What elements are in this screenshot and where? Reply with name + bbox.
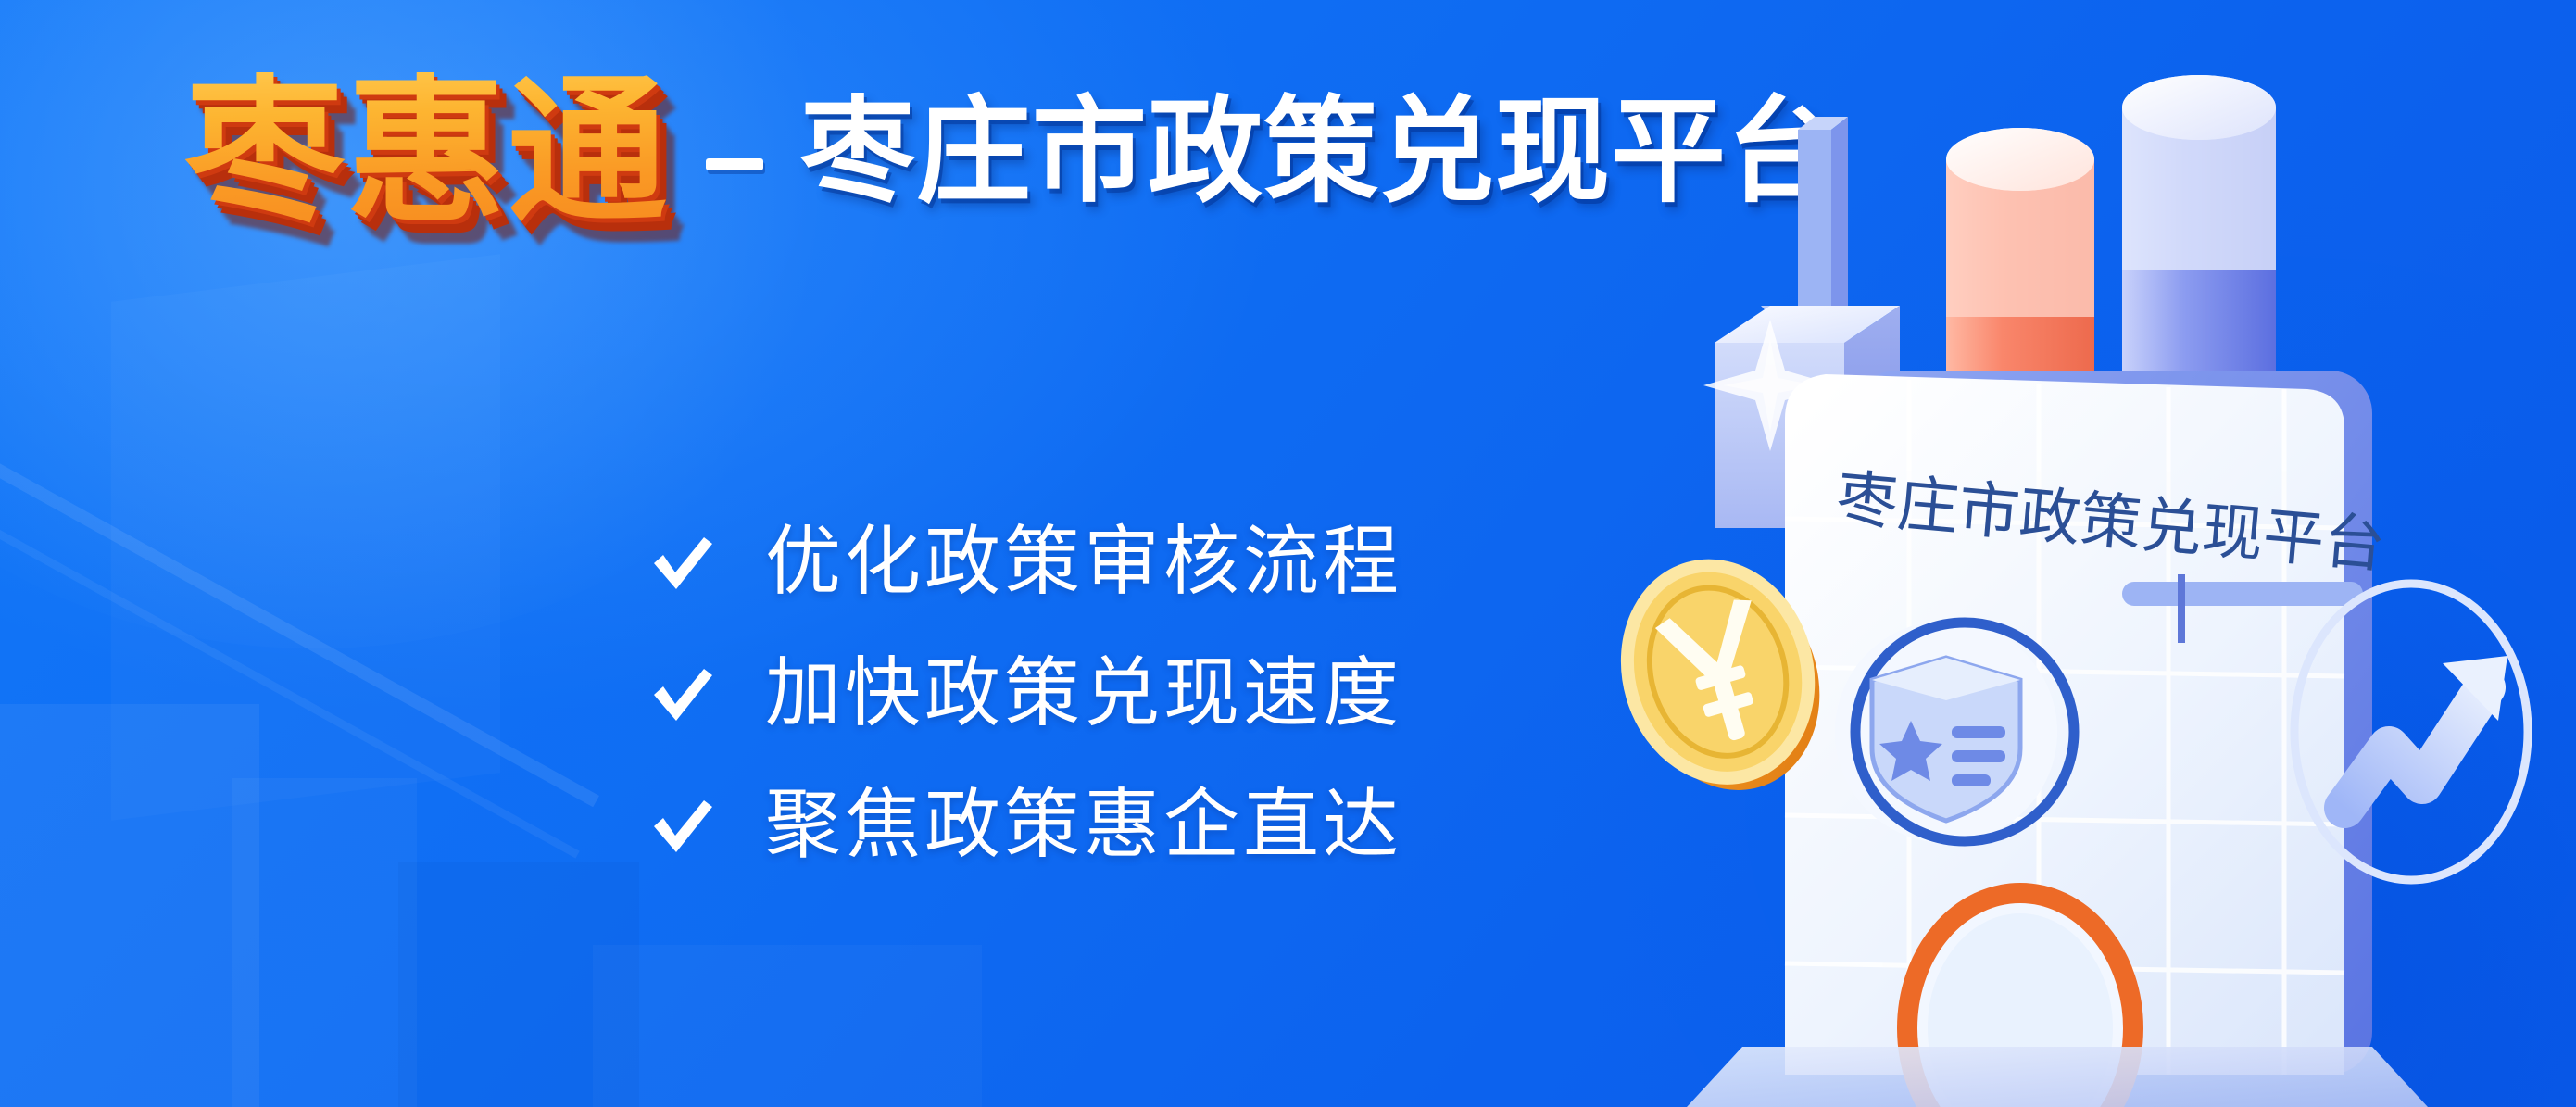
policy-platform-banner: 枣惠通 枣庄市政策兑现平台 优化政策审核流程 加快政策兑现速度 聚焦政策惠企直达 xyxy=(0,0,2576,1107)
background-building-large xyxy=(111,254,500,821)
platform-illustration: 枣庄市政策兑现平台 xyxy=(1603,0,2576,1107)
feature-label: 聚焦政策惠企直达 xyxy=(765,787,1402,863)
background-building-a xyxy=(0,704,259,1107)
background-building-d xyxy=(593,945,982,1107)
check-icon xyxy=(647,658,719,730)
background-diagonal-stripe-1 xyxy=(0,392,599,808)
feature-label: 加快政策兑现速度 xyxy=(765,656,1402,732)
list-item: 加快政策兑现速度 xyxy=(647,656,1402,732)
background-building-b xyxy=(232,778,417,1107)
title-separator-dash xyxy=(706,158,763,170)
check-icon xyxy=(647,789,719,862)
list-item: 优化政策审核流程 xyxy=(647,524,1402,600)
banner-headline: 枣惠通 枣庄市政策兑现平台 xyxy=(185,72,1842,232)
background-diagonal-stripe-2 xyxy=(0,447,580,858)
brand-title: 枣惠通 xyxy=(185,72,669,232)
feature-list: 优化政策审核流程 加快政策兑现速度 聚焦政策惠企直达 xyxy=(647,524,1402,863)
list-item: 聚焦政策惠企直达 xyxy=(647,787,1402,863)
feature-label: 优化政策审核流程 xyxy=(765,524,1402,600)
badge-shield-icon xyxy=(1835,621,2074,843)
background-building-c xyxy=(398,862,639,1107)
check-icon xyxy=(647,526,719,598)
illustration-base xyxy=(1687,1047,2428,1107)
